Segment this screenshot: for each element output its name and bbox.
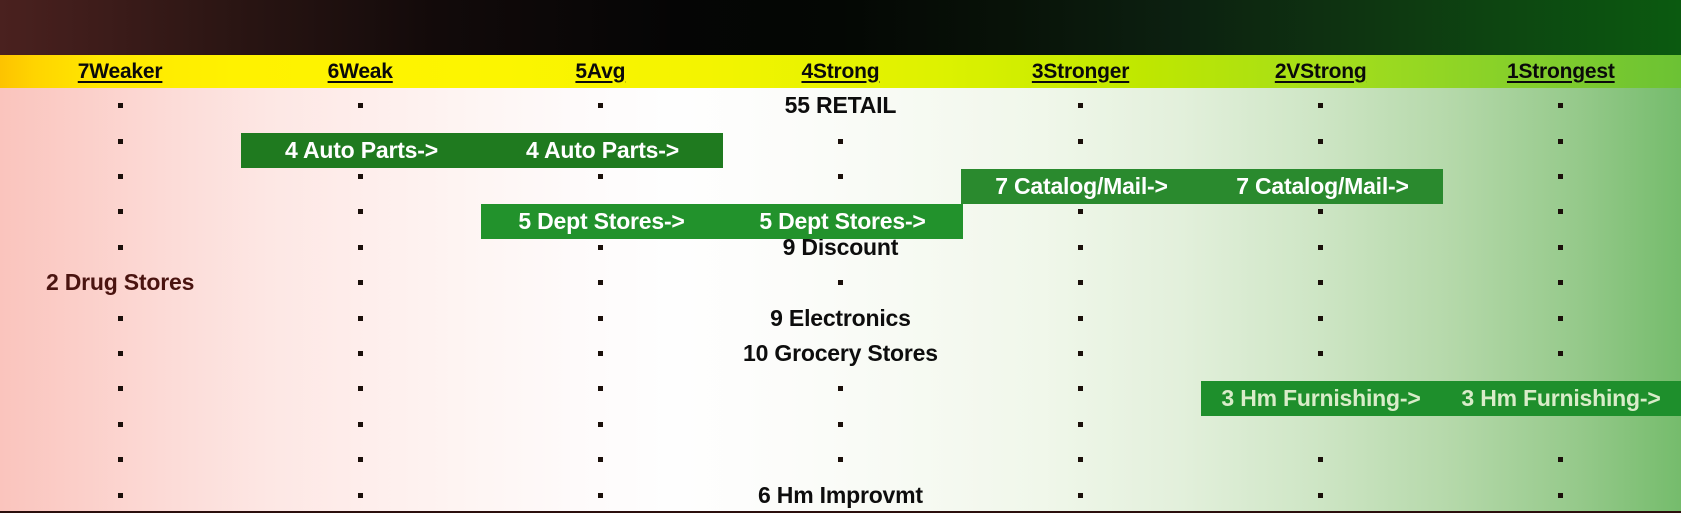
matrix-cell-r11-c5 bbox=[1201, 477, 1441, 511]
cell-dot-marker bbox=[598, 351, 603, 356]
column-header-1[interactable]: 6Weak bbox=[240, 55, 480, 88]
column-header-6[interactable]: 1Strongest bbox=[1441, 55, 1681, 88]
matrix-cell-r11-c4 bbox=[961, 477, 1201, 511]
matrix-cell-r10-c6 bbox=[1441, 442, 1681, 477]
matrix-cell-r5-c1 bbox=[240, 265, 480, 300]
matrix-cell-r6-c6 bbox=[1441, 300, 1681, 335]
matrix-cell-r2-c0 bbox=[0, 159, 240, 194]
matrix-cell-r8-c3 bbox=[720, 371, 960, 406]
cell-dot-marker bbox=[358, 280, 363, 285]
matrix-cell-r5-c6 bbox=[1441, 265, 1681, 300]
industry-label: 55 RETAIL bbox=[785, 92, 897, 119]
cell-dot-marker bbox=[1078, 280, 1083, 285]
cell-dot-marker bbox=[1078, 422, 1083, 427]
matrix-cell-r5-c0: 2 Drug Stores bbox=[0, 265, 240, 300]
cell-dot-marker bbox=[1078, 316, 1083, 321]
cell-dot-marker bbox=[118, 245, 123, 250]
cell-dot-marker bbox=[358, 386, 363, 391]
matrix-cell-r0-c3: 55 RETAIL bbox=[720, 88, 960, 123]
cell-dot-marker bbox=[1318, 103, 1323, 108]
matrix-cell-r10-c4 bbox=[961, 442, 1201, 477]
matrix-cell-r6-c0 bbox=[0, 300, 240, 335]
matrix-cell-r4-c4 bbox=[961, 230, 1201, 265]
matrix-cell-r11-c3: 6 Hm Improvmt bbox=[720, 477, 960, 511]
cell-dot-marker bbox=[358, 316, 363, 321]
column-header-label: 2VStrong bbox=[1275, 60, 1367, 84]
cell-dot-marker bbox=[1078, 103, 1083, 108]
cell-dot-marker bbox=[118, 493, 123, 498]
matrix-cell-r7-c5 bbox=[1201, 336, 1441, 371]
cell-dot-marker bbox=[118, 174, 123, 179]
cell-dot-marker bbox=[1078, 386, 1083, 391]
matrix-cell-r0-c0 bbox=[0, 88, 240, 123]
column-header-label: 4Strong bbox=[801, 60, 879, 84]
column-header-4[interactable]: 3Stronger bbox=[961, 55, 1201, 88]
industry-bar-segment: 7 Catalog/Mail-> bbox=[961, 169, 1202, 204]
matrix-cell-r8-c0 bbox=[0, 371, 240, 406]
matrix-cell-r0-c1 bbox=[240, 88, 480, 123]
cell-dot-marker bbox=[598, 280, 603, 285]
cell-dot-marker bbox=[1318, 457, 1323, 462]
matrix-cell-r2-c3 bbox=[720, 159, 960, 194]
industry-bar-auto-parts[interactable]: 4 Auto Parts->4 Auto Parts-> bbox=[241, 133, 723, 168]
cell-dot-marker bbox=[118, 457, 123, 462]
cell-dot-marker bbox=[1318, 280, 1323, 285]
matrix-cell-r5-c3 bbox=[720, 265, 960, 300]
cell-dot-marker bbox=[358, 351, 363, 356]
table-row: 55 RETAIL bbox=[0, 88, 1681, 123]
matrix-cell-r10-c2 bbox=[480, 442, 720, 477]
cell-dot-marker bbox=[838, 280, 843, 285]
matrix-cell-r6-c2 bbox=[480, 300, 720, 335]
cell-dot-marker bbox=[1318, 493, 1323, 498]
cell-dot-marker bbox=[1558, 457, 1563, 462]
cell-dot-marker bbox=[1078, 351, 1083, 356]
cell-dot-marker bbox=[118, 209, 123, 214]
cell-dot-marker bbox=[1318, 351, 1323, 356]
column-header-5[interactable]: 2VStrong bbox=[1201, 55, 1441, 88]
cell-dot-marker bbox=[1558, 316, 1563, 321]
matrix-cell-r9-c0 bbox=[0, 407, 240, 442]
matrix-cell-r11-c0 bbox=[0, 477, 240, 511]
cell-dot-marker bbox=[1078, 209, 1083, 214]
industry-bar-segment: 5 Dept Stores-> bbox=[722, 204, 963, 239]
matrix-cell-r4-c0 bbox=[0, 230, 240, 265]
cell-dot-marker bbox=[598, 493, 603, 498]
matrix-cell-r1-c0 bbox=[0, 123, 240, 158]
matrix-cell-r9-c4 bbox=[961, 407, 1201, 442]
industry-bar-segment: 5 Dept Stores-> bbox=[481, 204, 722, 239]
column-header-label: 5Avg bbox=[575, 60, 625, 84]
industry-bar-hm-furnishing[interactable]: 3 Hm Furnishing->3 Hm Furnishing-> bbox=[1201, 381, 1681, 416]
matrix-cell-r7-c0 bbox=[0, 336, 240, 371]
cell-dot-marker bbox=[358, 209, 363, 214]
matrix-cell-r4-c1 bbox=[240, 230, 480, 265]
column-header-label: 7Weaker bbox=[78, 60, 163, 84]
cell-dot-marker bbox=[358, 493, 363, 498]
cell-dot-marker bbox=[1558, 245, 1563, 250]
cell-dot-marker bbox=[118, 103, 123, 108]
cell-dot-marker bbox=[1558, 280, 1563, 285]
matrix-cell-r8-c4 bbox=[961, 371, 1201, 406]
cell-dot-marker bbox=[598, 457, 603, 462]
matrix-cell-r0-c5 bbox=[1201, 88, 1441, 123]
cell-dot-marker bbox=[1318, 139, 1323, 144]
industry-bar-segment: 7 Catalog/Mail-> bbox=[1202, 169, 1443, 204]
matrix-cell-r7-c2 bbox=[480, 336, 720, 371]
matrix-cell-r3-c6 bbox=[1441, 194, 1681, 229]
matrix-cell-r6-c4 bbox=[961, 300, 1201, 335]
matrix-cell-r1-c6 bbox=[1441, 123, 1681, 158]
cell-dot-marker bbox=[1558, 139, 1563, 144]
matrix-cell-r3-c1 bbox=[240, 194, 480, 229]
matrix-cell-r0-c6 bbox=[1441, 88, 1681, 123]
industry-label: 6 Hm Improvmt bbox=[758, 482, 923, 509]
matrix-cell-r0-c4 bbox=[961, 88, 1201, 123]
matrix-cell-r5-c5 bbox=[1201, 265, 1441, 300]
column-header-0[interactable]: 7Weaker bbox=[0, 55, 240, 88]
cell-dot-marker bbox=[358, 422, 363, 427]
matrix-cell-r0-c2 bbox=[480, 88, 720, 123]
cell-dot-marker bbox=[598, 174, 603, 179]
matrix-cell-r10-c3 bbox=[720, 442, 960, 477]
cell-dot-marker bbox=[1318, 316, 1323, 321]
cell-dot-marker bbox=[118, 351, 123, 356]
industry-bar-segment: 3 Hm Furnishing-> bbox=[1201, 381, 1441, 416]
industry-bar-catalog-mail[interactable]: 7 Catalog/Mail->7 Catalog/Mail-> bbox=[961, 169, 1443, 204]
cell-dot-marker bbox=[838, 139, 843, 144]
cell-dot-marker bbox=[118, 139, 123, 144]
cell-dot-marker bbox=[1558, 174, 1563, 179]
matrix-body: 55 RETAIL9 Discount2 Drug Stores9 Electr… bbox=[0, 88, 1681, 511]
matrix-cell-r1-c5 bbox=[1201, 123, 1441, 158]
strength-header-row: 7Weaker6Weak5Avg4Strong3Stronger2VStrong… bbox=[0, 55, 1681, 88]
matrix-cell-r9-c3 bbox=[720, 407, 960, 442]
column-header-label: 3Stronger bbox=[1032, 60, 1129, 84]
cell-dot-marker bbox=[598, 245, 603, 250]
gradient-strip-top bbox=[0, 0, 1681, 55]
cell-dot-marker bbox=[838, 457, 843, 462]
table-row: 2 Drug Stores bbox=[0, 265, 1681, 300]
table-row bbox=[0, 442, 1681, 477]
matrix-cell-r1-c3 bbox=[720, 123, 960, 158]
column-header-3[interactable]: 4Strong bbox=[720, 55, 960, 88]
matrix-cell-r6-c5 bbox=[1201, 300, 1441, 335]
matrix-cell-r9-c2 bbox=[480, 407, 720, 442]
matrix-cell-r11-c2 bbox=[480, 477, 720, 511]
cell-dot-marker bbox=[598, 316, 603, 321]
cell-dot-marker bbox=[1078, 457, 1083, 462]
cell-dot-marker bbox=[1078, 245, 1083, 250]
matrix-cell-r7-c4 bbox=[961, 336, 1201, 371]
table-row: 6 Hm Improvmt bbox=[0, 477, 1681, 511]
industry-label: 9 Electronics bbox=[770, 305, 911, 332]
cell-dot-marker bbox=[1078, 139, 1083, 144]
cell-dot-marker bbox=[358, 174, 363, 179]
matrix-cell-r8-c1 bbox=[240, 371, 480, 406]
cell-dot-marker bbox=[118, 316, 123, 321]
cell-dot-marker bbox=[838, 386, 843, 391]
cell-dot-marker bbox=[838, 422, 843, 427]
cell-dot-marker bbox=[598, 422, 603, 427]
cell-dot-marker bbox=[1318, 209, 1323, 214]
cell-dot-marker bbox=[118, 386, 123, 391]
cell-dot-marker bbox=[1558, 103, 1563, 108]
matrix-cell-r5-c2 bbox=[480, 265, 720, 300]
cell-dot-marker bbox=[358, 457, 363, 462]
cell-dot-marker bbox=[1558, 209, 1563, 214]
cell-dot-marker bbox=[1078, 493, 1083, 498]
cell-dot-marker bbox=[118, 422, 123, 427]
table-row: 10 Grocery Stores bbox=[0, 336, 1681, 371]
cell-dot-marker bbox=[1558, 493, 1563, 498]
matrix-cell-r3-c0 bbox=[0, 194, 240, 229]
cell-dot-marker bbox=[358, 245, 363, 250]
column-header-label: 1Strongest bbox=[1507, 60, 1615, 84]
cell-dot-marker bbox=[598, 103, 603, 108]
cell-dot-marker bbox=[1558, 351, 1563, 356]
table-row: 9 Electronics bbox=[0, 300, 1681, 335]
column-header-label: 6Weak bbox=[328, 60, 393, 84]
matrix-cell-r10-c0 bbox=[0, 442, 240, 477]
matrix-cell-r1-c4 bbox=[961, 123, 1201, 158]
column-header-2[interactable]: 5Avg bbox=[480, 55, 720, 88]
cell-dot-marker bbox=[358, 103, 363, 108]
industry-label: 10 Grocery Stores bbox=[743, 340, 938, 367]
matrix-cell-r11-c1 bbox=[240, 477, 480, 511]
industry-bar-segment: 4 Auto Parts-> bbox=[241, 133, 482, 168]
cell-dot-marker bbox=[838, 174, 843, 179]
matrix-cell-r8-c2 bbox=[480, 371, 720, 406]
matrix-cell-r11-c6 bbox=[1441, 477, 1681, 511]
retail-strength-matrix: 7Weaker6Weak5Avg4Strong3Stronger2VStrong… bbox=[0, 0, 1681, 513]
matrix-cell-r9-c1 bbox=[240, 407, 480, 442]
matrix-cell-r10-c5 bbox=[1201, 442, 1441, 477]
matrix-cell-r10-c1 bbox=[240, 442, 480, 477]
matrix-cell-r7-c3: 10 Grocery Stores bbox=[720, 336, 960, 371]
matrix-cell-r7-c1 bbox=[240, 336, 480, 371]
industry-bar-segment: 4 Auto Parts-> bbox=[482, 133, 723, 168]
matrix-cell-r6-c3: 9 Electronics bbox=[720, 300, 960, 335]
matrix-cell-r4-c5 bbox=[1201, 230, 1441, 265]
matrix-cell-r6-c1 bbox=[240, 300, 480, 335]
matrix-cell-r2-c6 bbox=[1441, 159, 1681, 194]
cell-dot-marker bbox=[1318, 245, 1323, 250]
industry-label: 2 Drug Stores bbox=[46, 269, 194, 296]
matrix-cell-r7-c6 bbox=[1441, 336, 1681, 371]
matrix-cell-r5-c4 bbox=[961, 265, 1201, 300]
cell-dot-marker bbox=[598, 386, 603, 391]
industry-bar-dept-stores[interactable]: 5 Dept Stores->5 Dept Stores-> bbox=[481, 204, 963, 239]
industry-bar-segment: 3 Hm Furnishing-> bbox=[1441, 381, 1681, 416]
matrix-cell-r4-c6 bbox=[1441, 230, 1681, 265]
